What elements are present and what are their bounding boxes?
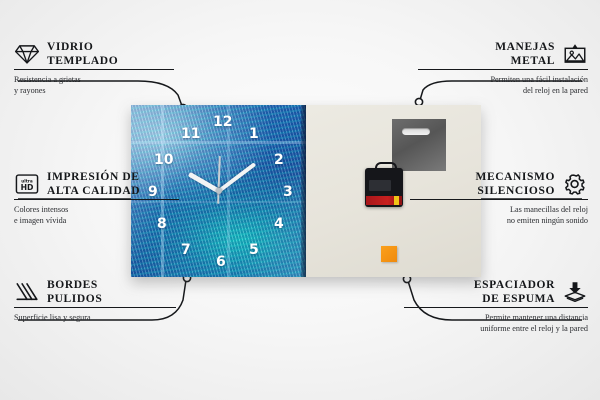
callout-divider (14, 307, 176, 308)
polished-edges-icon (14, 280, 40, 304)
picture-hanger-icon (562, 42, 588, 66)
foam-spacer-icon (562, 280, 588, 304)
ultra-hd-icon: ultra HD (14, 172, 40, 196)
callout-title: IMPRESIÓN DEALTA CALIDAD (47, 170, 140, 199)
clock-numeral: 11 (181, 127, 200, 141)
callout-divider (14, 69, 174, 70)
clock-numeral: 5 (249, 243, 259, 257)
callout-impresion-alta-calidad: ultra HD IMPRESIÓN DEALTA CALIDAD Colore… (14, 170, 179, 226)
callout-header: BORDESPULIDOS (14, 278, 176, 307)
clock-numeral: 10 (154, 153, 173, 167)
callout-description: Resistencia a grietasy rayones (14, 74, 174, 96)
callout-title: BORDESPULIDOS (47, 278, 102, 307)
clock-numeral: 12 (213, 115, 232, 129)
diamond-icon (14, 42, 40, 66)
callout-bordes-pulidos: BORDESPULIDOS Superficie lisa y segura (14, 278, 176, 323)
clock-center-cap (216, 188, 222, 194)
mechanism-hanger-loop (375, 162, 397, 174)
callout-description: Superficie lisa y segura (14, 312, 176, 323)
callout-header: VIDRIOTEMPLADO (14, 40, 174, 69)
callout-divider (418, 69, 588, 70)
callout-header: ultra HD IMPRESIÓN DEALTA CALIDAD (14, 170, 179, 199)
clock-mechanism-box (365, 168, 403, 207)
callout-description: Permite mantener una distanciauniforme e… (404, 312, 588, 334)
gear-icon (562, 172, 588, 196)
callout-espaciador-espuma: ESPACIADORDE ESPUMA Permite mantener una… (404, 278, 588, 334)
clock-numeral: 1 (249, 127, 259, 141)
clock-numeral: 4 (274, 217, 284, 231)
foam-spacer (381, 246, 397, 262)
callout-header: MECANISMOSILENCIOSO (410, 170, 588, 199)
callout-mecanismo-silencioso: MECANISMOSILENCIOSO Las manecillas del r… (410, 170, 588, 226)
svg-text:HD: HD (21, 183, 34, 192)
callout-title: MECANISMOSILENCIOSO (475, 170, 555, 199)
callout-description: Permiten una fácil instalacióndel reloj … (418, 74, 588, 96)
callout-header: MANEJASMETAL (418, 40, 588, 69)
callout-divider (410, 199, 588, 200)
callout-description: Las manecillas del relojno emiten ningún… (410, 204, 588, 226)
mechanism-label (366, 196, 402, 205)
clock-numeral: 6 (216, 255, 226, 269)
callout-description: Colores intensose imagen vívida (14, 204, 179, 226)
callout-header: ESPACIADORDE ESPUMA (404, 278, 588, 307)
mechanism-battery-bay (369, 180, 391, 191)
clock-numeral: 2 (274, 153, 284, 167)
callout-divider (404, 307, 588, 308)
infographic-stage: 12 1 2 3 4 5 6 7 8 9 10 11 (0, 0, 600, 400)
callout-title: VIDRIOTEMPLADO (47, 40, 118, 69)
callout-title: ESPACIADORDE ESPUMA (474, 278, 555, 307)
callout-vidrio-templado: VIDRIOTEMPLADO Resistencia a grietasy ra… (14, 40, 174, 96)
callout-divider (14, 199, 179, 200)
metal-hanger-plate (392, 119, 446, 171)
callout-manejas-metal: MANEJASMETAL Permiten una fácil instalac… (418, 40, 588, 96)
hanger-slot (402, 128, 430, 135)
clock-numeral: 7 (181, 243, 191, 257)
clock-numeral: 3 (283, 185, 293, 199)
callout-title: MANEJASMETAL (495, 40, 555, 69)
